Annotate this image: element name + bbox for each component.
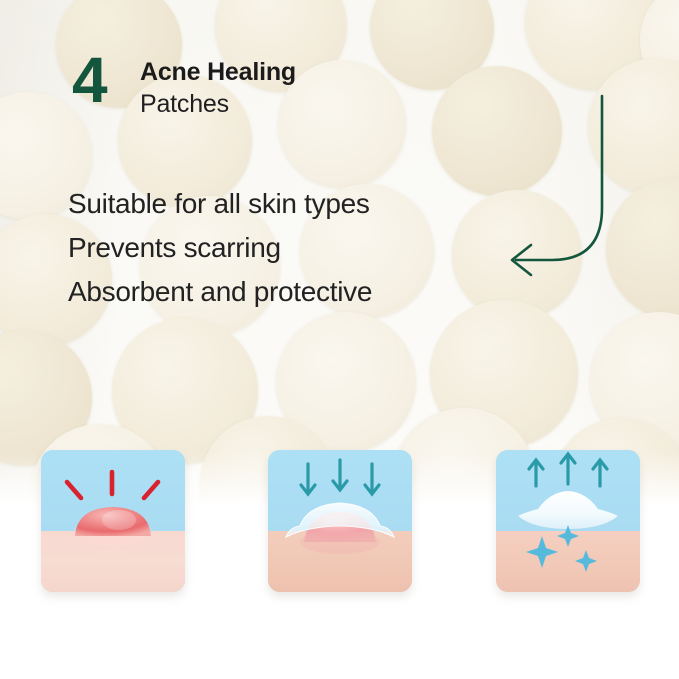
illustration-panels xyxy=(41,450,641,595)
title-line-primary: Acne Healing xyxy=(140,58,540,88)
panel-inflamed-pimple xyxy=(41,450,185,592)
arrows-down-icon xyxy=(301,460,379,494)
feature-item: Prevents scarring xyxy=(68,226,538,270)
sparkles-icon xyxy=(526,525,597,572)
panel-absorbed-healed xyxy=(496,450,640,592)
panel-3-artwork xyxy=(496,450,640,592)
feature-item: Suitable for all skin types xyxy=(68,182,538,226)
feature-list: Suitable for all skin types Prevents sca… xyxy=(68,182,538,314)
page-title: Acne Healing Patches xyxy=(140,58,540,120)
product-feature-infographic: 4 Acne Healing Patches Suitable for all … xyxy=(0,0,679,679)
curved-arrow-icon xyxy=(490,90,630,280)
panel-1-artwork xyxy=(41,450,185,592)
panel-patch-applied xyxy=(268,450,412,592)
feature-item: Absorbent and protective xyxy=(68,270,538,314)
step-number: 4 xyxy=(72,48,107,112)
panel-2-artwork xyxy=(268,450,412,592)
arrows-up-icon xyxy=(529,454,607,486)
irritation-lines-icon xyxy=(67,472,158,498)
title-line-secondary: Patches xyxy=(140,88,540,121)
